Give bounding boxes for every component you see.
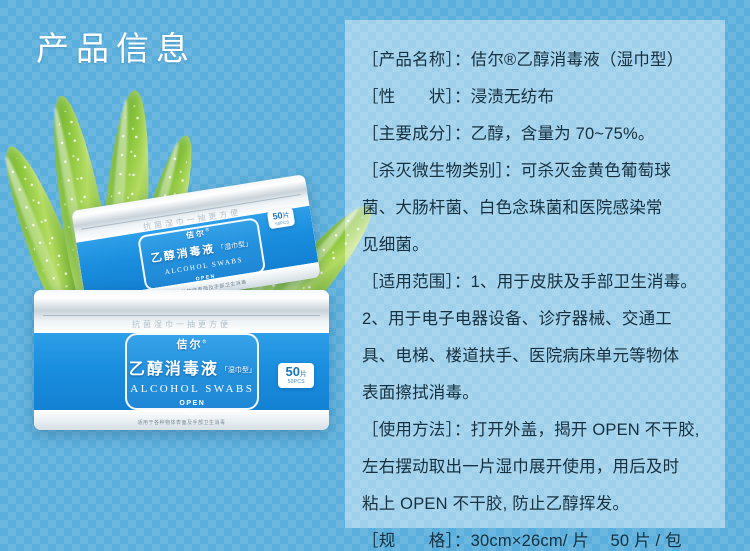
open-arc-icon xyxy=(184,409,200,415)
spec-line: 左右摆动取出一片湿巾展开使用，用后及时 xyxy=(362,449,715,486)
spec-line: ［杀灭微生物类别］：可杀灭金黄色葡萄球 xyxy=(362,153,715,190)
spec-line: ［主要成分］：乙醇，含量为 70~75%。 xyxy=(362,116,715,153)
pack-open-label: OPEN xyxy=(179,400,205,407)
product-info-page: 产品信息 抗菌湿巾一抽更方便 佶尔® 乙醇消毒液「湿巾型」 ALCOHOL SW… xyxy=(0,0,750,551)
pack-title-cn: 乙醇消毒液「湿巾型」 xyxy=(129,355,256,379)
product-info-panel: ［产品名称］：佶尔®乙醇消毒液（湿巾型）［性 状］：浸渍无纺布［主要成分］：乙醇… xyxy=(345,20,725,528)
pack-count-pcs: 50PCS xyxy=(275,220,290,227)
pack-count-badge: 50片 50PCS xyxy=(278,363,314,388)
spec-line: ［产品名称］：佶尔®乙醇消毒液（湿巾型） xyxy=(362,42,715,79)
spec-line: 2、用于电子电器设备、诊疗器械、交通工 xyxy=(362,301,715,338)
spec-line: 表面擦拭消毒。 xyxy=(362,375,715,412)
pack-brand-mark: ® xyxy=(202,340,208,346)
spec-line: ［性 状］：浸渍无纺布 xyxy=(362,79,715,116)
pack-title-cn-text: 乙醇消毒液 xyxy=(129,361,219,378)
spec-line: 见细菌。 xyxy=(362,227,715,264)
pack-title-en: ALCOHOL SWABS xyxy=(130,383,254,395)
spec-line: ［适用范围］：1、用于皮肤及手部卫生消毒。 xyxy=(362,264,715,301)
pack-count-unit: 片 xyxy=(300,371,307,378)
page-title: 产品信息 xyxy=(36,22,196,70)
spec-line: ［规 格］：30cm×26cm/ 片 50 片 / 包 xyxy=(362,523,715,551)
spec-line: 具、电梯、楼道扶手、医院病床单元等物体 xyxy=(362,338,715,375)
pack-open-mark: OPEN xyxy=(179,400,205,407)
product-spec-list: ［产品名称］：佶尔®乙醇消毒液（湿巾型）［性 状］：浸渍无纺布［主要成分］：乙醇… xyxy=(362,42,715,551)
spec-line: 粘上 OPEN 不干胶, 防止乙醇挥发。 xyxy=(362,486,715,523)
product-pack-front: 抗菌湿巾一抽更方便 佶尔® 乙醇消毒液「湿巾型」 ALCOHOL SWABS O… xyxy=(34,290,329,430)
product-photo: 抗菌湿巾一抽更方便 佶尔® 乙醇消毒液「湿巾型」 ALCOHOL SWABS O… xyxy=(0,80,340,450)
pack-brand: 佶尔® xyxy=(176,336,208,352)
pack-brand: 佶尔® xyxy=(185,226,212,241)
pack-type-tag: 「湿巾型」 xyxy=(221,367,256,374)
pack-tagline: 适用于各种物体表面及手部卫生消毒 xyxy=(34,419,329,426)
pack-count-row: 50片 xyxy=(286,365,307,379)
pack-count-value: 50 xyxy=(286,364,300,379)
pack-ghost-text: 抗菌湿巾一抽更方便 xyxy=(34,319,329,330)
spec-line: 菌、大肠杆菌、白色念珠菌和医院感染常 xyxy=(362,190,715,227)
pack-brand-text: 佶尔 xyxy=(176,339,202,351)
pack-count-pcs: 50PCS xyxy=(288,380,305,386)
pack-brand-text: 佶尔 xyxy=(185,228,206,240)
pack-type-tag: 「湿巾型」 xyxy=(217,240,253,252)
pack-label: 佶尔® 乙醇消毒液「湿巾型」 ALCOHOL SWABS OPEN xyxy=(125,333,259,410)
spec-line: ［使用方法］：打开外盖，揭开 OPEN 不干胶, xyxy=(362,412,715,449)
pack-brand-mark: ® xyxy=(205,227,212,234)
pack-crease xyxy=(43,315,320,316)
